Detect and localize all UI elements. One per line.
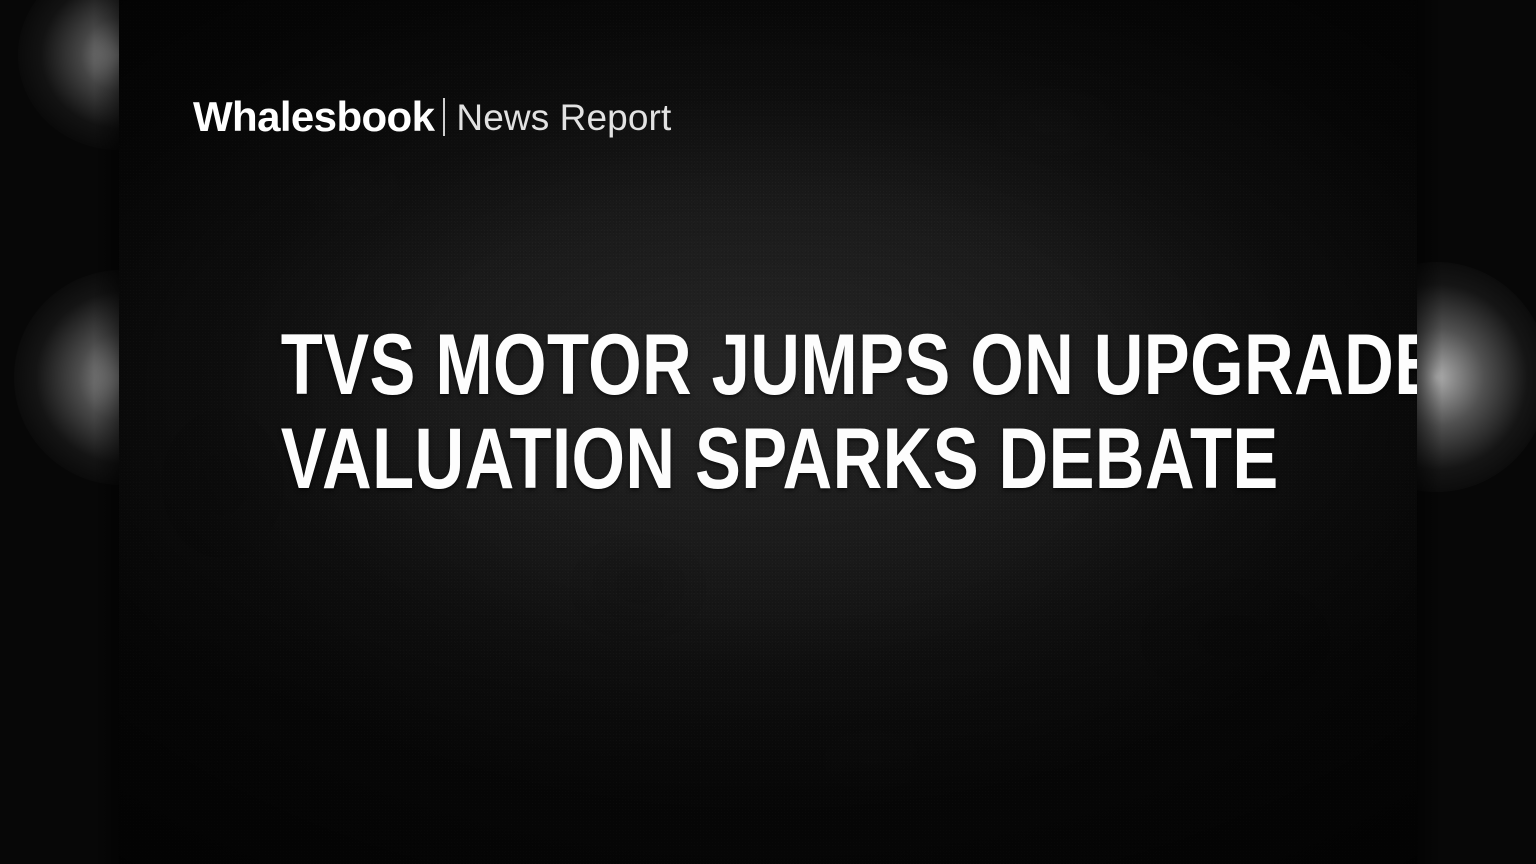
brand-name: Whalesbook: [193, 96, 434, 138]
headline-line-2: VALUATION SPARKS DEBATE: [281, 412, 1255, 506]
background-glow-blob: [18, 0, 120, 150]
blurred-left-letterbox-bar: [0, 0, 120, 864]
brand-divider: [443, 98, 445, 136]
news-card: Whalesbook News Report TVS MOTOR JUMPS O…: [0, 0, 1536, 864]
main-content-panel: Whalesbook News Report TVS MOTOR JUMPS O…: [119, 0, 1417, 864]
background-glow-blob: [1416, 262, 1536, 492]
headline-line-1: TVS MOTOR JUMPS ON UPGRADE, BUT HIGH: [281, 318, 1255, 412]
brand-lockup: Whalesbook News Report: [193, 96, 671, 138]
background-glow-blob: [14, 270, 120, 485]
letterbox-edge-shading: [1416, 0, 1442, 864]
brand-section-label: News Report: [456, 99, 671, 136]
headline: TVS MOTOR JUMPS ON UPGRADE, BUT HIGH VAL…: [119, 318, 1417, 506]
letterbox-edge-shading: [94, 0, 120, 864]
panel-content: Whalesbook News Report TVS MOTOR JUMPS O…: [119, 0, 1417, 864]
blurred-right-letterbox-bar: [1416, 0, 1536, 864]
